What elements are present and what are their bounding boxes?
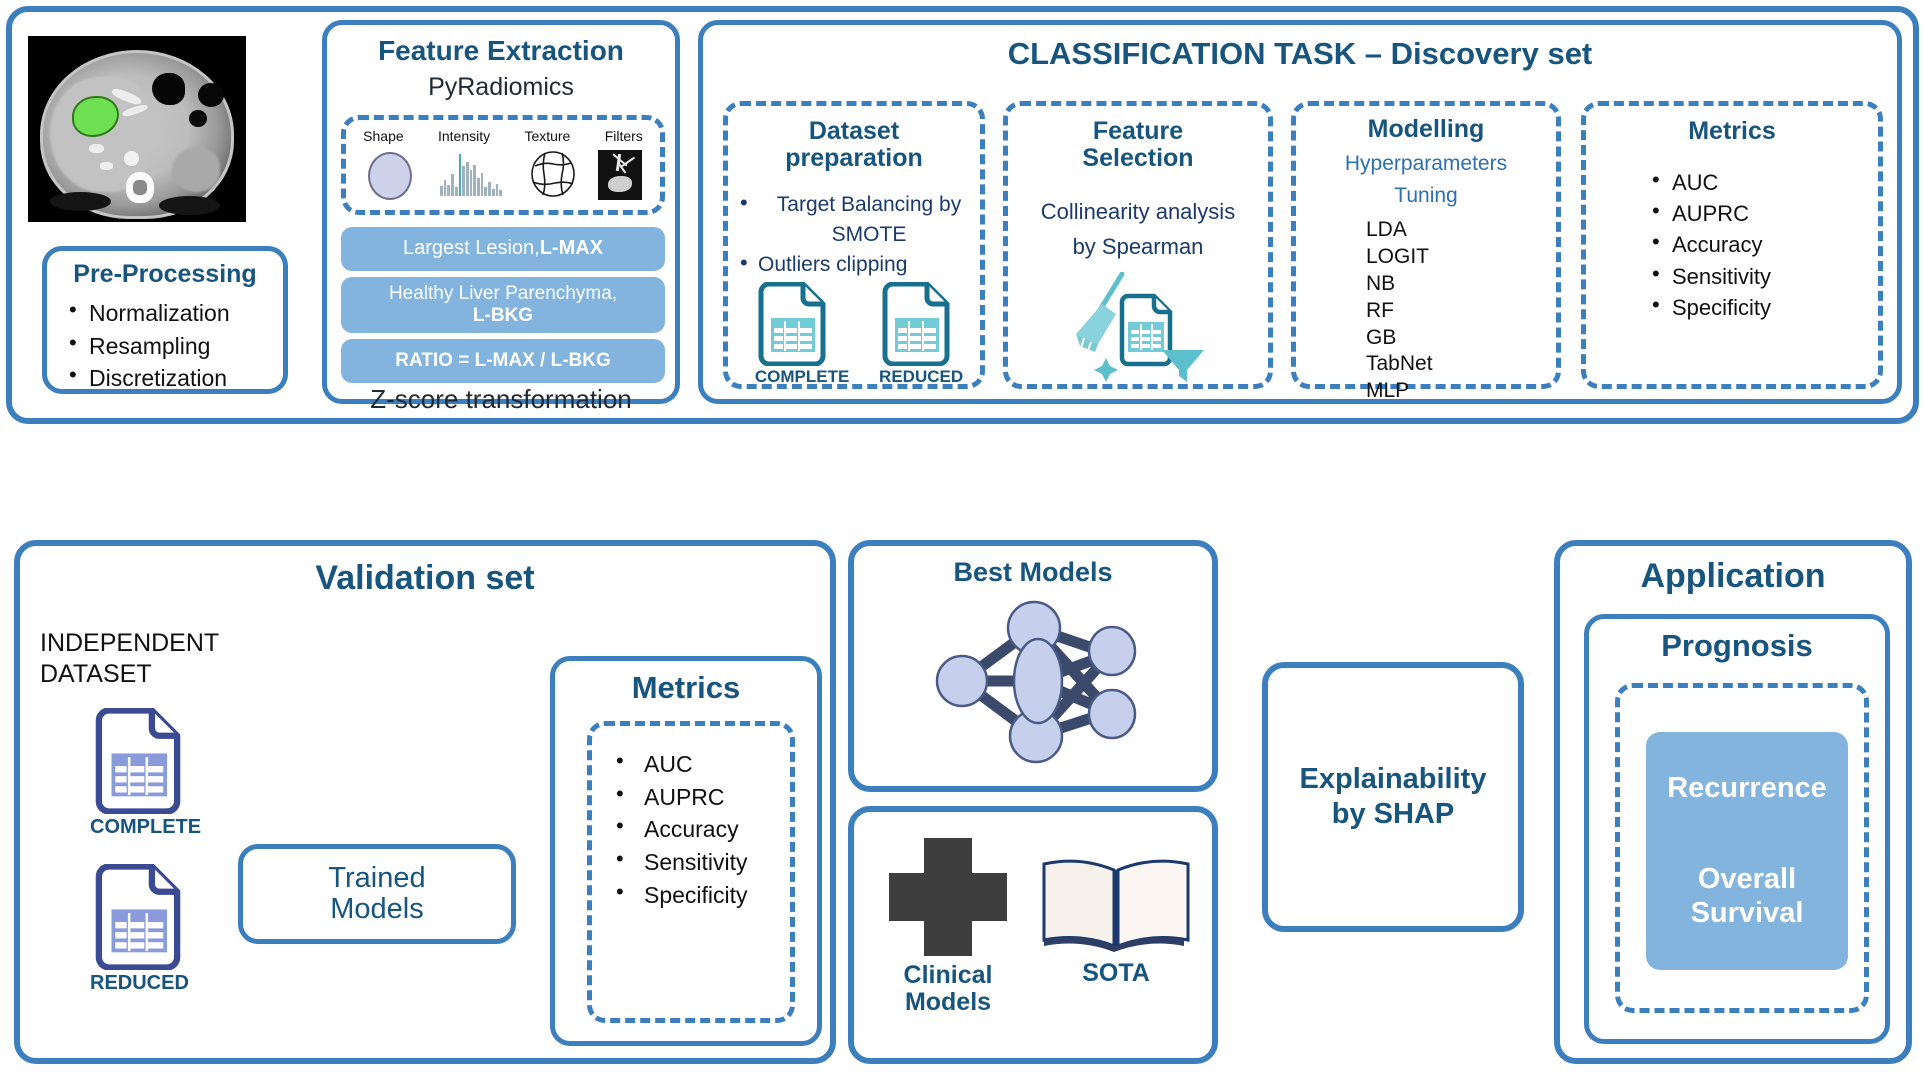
discovery-metrics-list: AUC AUPRC Accuracy Sensitivity Specifici… <box>1646 167 1878 323</box>
discovery-metrics-box: Metrics AUC AUPRC Accuracy Sensitivity S… <box>1581 101 1883 389</box>
feature-type-label: Shape <box>363 128 403 144</box>
text-line-2: by Spearman <box>1008 229 1268 264</box>
feature-type-label: Texture <box>524 128 570 144</box>
outcome-recurrence: Recurrence <box>1667 772 1827 806</box>
list-item: AUPRC <box>610 781 790 814</box>
title-line-1: Dataset <box>728 118 980 145</box>
validation-metrics-dashed: AUC AUPRC Accuracy Sensitivity Specifici… <box>587 721 795 1023</box>
broom-funnel-file-icon <box>1070 272 1220 384</box>
validation-metrics-list: AUC AUPRC Accuracy Sensitivity Specifici… <box>610 748 790 911</box>
model-item: LDA <box>1366 217 1556 244</box>
title-line-2: Selection <box>1008 145 1268 172</box>
list-item: Discretization <box>63 362 283 395</box>
model-item: MLP <box>1366 378 1556 405</box>
validation-set-title: Validation set <box>20 560 830 597</box>
model-item: TabNet <box>1366 351 1556 378</box>
prognosis-title: Prognosis <box>1589 629 1885 662</box>
title-line-2: preparation <box>728 145 980 172</box>
file-complete-icon <box>755 282 829 366</box>
open-book-icon <box>1038 852 1194 952</box>
feature-selection-box: Feature Selection Collinearity analysis … <box>1003 101 1273 389</box>
explainability-panel: Explainability by SHAP <box>1262 662 1524 932</box>
file-label: REDUCED <box>879 368 963 386</box>
list-item: Normalization <box>63 297 283 330</box>
outcomes-box: Recurrence Overall Survival <box>1646 732 1848 970</box>
model-item: LOGIT <box>1366 244 1556 271</box>
trained-models-label: Trained Models <box>328 863 425 926</box>
best-models-title: Best Models <box>854 558 1212 587</box>
feature-extraction-panel: Feature Extraction PyRadiomics Shape Int… <box>322 20 680 404</box>
list-item: Target Balancing by SMOTE <box>740 190 980 250</box>
text-line-1: Collinearity analysis <box>1008 194 1268 229</box>
validation-metrics-title: Metrics <box>555 671 817 704</box>
medical-cross-icon <box>889 838 1007 956</box>
model-item: RF <box>1366 298 1556 325</box>
list-item: Specificity <box>610 879 790 912</box>
feature-selection-text: Collinearity analysis by Spearman <box>1008 194 1268 264</box>
file-complete-icon <box>90 708 186 814</box>
bar-text: Largest Lesion, <box>403 237 540 260</box>
list-item: Resampling <box>63 330 283 363</box>
application-title: Application <box>1560 558 1906 595</box>
feature-type-label: Filters <box>605 128 643 144</box>
dataset-preparation-title: Dataset preparation <box>728 118 980 172</box>
list-item: Sensitivity <box>1646 261 1878 292</box>
texture-mesh-icon <box>529 150 577 198</box>
list-item: AUC <box>1646 167 1878 198</box>
feature-types-box: Shape Intensity Texture Filters <box>341 115 665 215</box>
feature-type-label: Intensity <box>438 128 490 144</box>
comparison-panel: Clinical Models SOTA <box>848 806 1218 1064</box>
file-reduced-icon <box>879 282 953 366</box>
dataset-preparation-list: Target Balancing by SMOTE Outliers clipp… <box>740 190 980 279</box>
file-label: COMPLETE <box>90 817 201 839</box>
histogram-icon <box>440 152 502 196</box>
pipeline-diagram: Pre-Processing Normalization Resampling … <box>0 0 1925 1074</box>
list-item: Accuracy <box>1646 229 1878 260</box>
label-line-1: Trained <box>328 863 425 894</box>
model-item: GB <box>1366 325 1556 352</box>
list-item: Sensitivity <box>610 846 790 879</box>
title-line-1: Feature <box>1008 118 1268 145</box>
bar-ratio: RATIO = L-MAX / L-BKG <box>341 339 665 383</box>
modelling-title: Modelling <box>1296 116 1556 143</box>
feature-selection-title: Feature Selection <box>1008 118 1268 172</box>
label-line-2: Models <box>878 989 1018 1016</box>
prognosis-box: Prognosis Recurrence Overall Survival <box>1584 614 1890 1044</box>
bar-healthy-parenchyma: Healthy Liver Parenchyma,L-BKG <box>341 277 665 333</box>
ct-scan-image <box>28 36 246 222</box>
list-item: Specificity <box>1646 292 1878 323</box>
shape-ellipse-icon <box>368 152 412 200</box>
preprocessing-box: Pre-Processing Normalization Resampling … <box>42 246 288 394</box>
file-reduced-icon <box>90 864 186 970</box>
explainability-label: Explainability by SHAP <box>1300 762 1487 832</box>
list-item: AUPRC <box>1646 198 1878 229</box>
bar-text: Healthy Liver Parenchyma, <box>389 283 617 305</box>
classification-task-panel: CLASSIFICATION TASK – Discovery set Data… <box>698 20 1902 404</box>
subtitle-line-2: Tuning <box>1296 180 1556 212</box>
list-item: Accuracy <box>610 813 790 846</box>
bar-text-bold: L-BKG <box>473 305 533 327</box>
outcome-overall-survival: Overall Survival <box>1646 862 1848 930</box>
label-line-2: Models <box>328 894 425 925</box>
filter-thumbnail-icon <box>598 150 642 200</box>
discovery-metrics-title: Metrics <box>1586 118 1878 145</box>
file-label: REDUCED <box>90 973 189 995</box>
modelling-box: Modelling Hyperparameters Tuning LDA LOG… <box>1291 101 1561 389</box>
trained-models-box: Trained Models <box>238 844 516 944</box>
neural-network-icon <box>924 596 1152 766</box>
preprocessing-title: Pre-Processing <box>47 261 283 288</box>
label-line-1: Clinical <box>878 962 1018 989</box>
independent-dataset-label: INDEPENDENT DATASET <box>40 628 219 691</box>
sota-label: SOTA <box>1036 960 1196 987</box>
validation-set-panel: Validation set INDEPENDENT DATASET <box>14 540 836 1064</box>
classification-title: CLASSIFICATION TASK – Discovery set <box>703 37 1897 70</box>
feature-extraction-subtitle: PyRadiomics <box>327 73 675 102</box>
zscore-footer: Z-score transformation <box>327 385 675 415</box>
bar-text-bold: L-MAX <box>540 237 603 260</box>
label-line-2: DATASET <box>40 659 219 690</box>
file-label: COMPLETE <box>755 368 849 386</box>
preprocessing-list: Normalization Resampling Discretization <box>63 297 283 395</box>
dataset-preparation-box: Dataset preparation Target Balancing by … <box>723 101 985 389</box>
bar-text-bold: RATIO = L-MAX / L-BKG <box>395 350 611 372</box>
subtitle-line-1: Hyperparameters <box>1296 148 1556 180</box>
modelling-subtitle: Hyperparameters Tuning <box>1296 148 1556 211</box>
label-line-1: INDEPENDENT <box>40 628 219 659</box>
list-item: Outliers clipping <box>740 250 980 280</box>
clinical-models-label: Clinical Models <box>878 962 1018 1016</box>
application-panel: Application Prognosis Recurrence Overall… <box>1554 540 1912 1064</box>
prognosis-dashed: Recurrence Overall Survival <box>1615 683 1869 1013</box>
label-line-2: by SHAP <box>1300 797 1487 832</box>
model-list: LDA LOGIT NB RF GB TabNet MLP <box>1366 217 1556 405</box>
list-item: AUC <box>610 748 790 781</box>
best-models-panel: Best Models <box>848 540 1218 792</box>
feature-extraction-title: Feature Extraction <box>327 36 675 66</box>
bar-largest-lesion: Largest Lesion, L-MAX <box>341 227 665 271</box>
model-item: NB <box>1366 271 1556 298</box>
validation-metrics-box: Metrics AUC AUPRC Accuracy Sensitivity S… <box>550 656 822 1046</box>
label-line-1: Explainability <box>1300 762 1487 797</box>
